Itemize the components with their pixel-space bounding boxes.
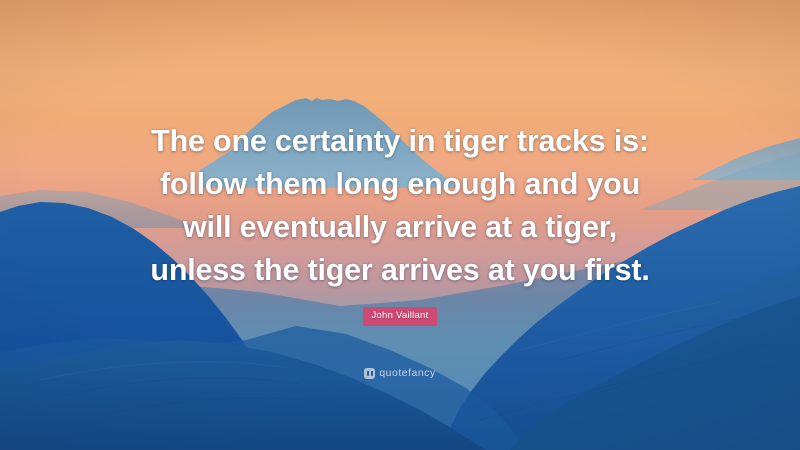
quote-text: The one certainty in tiger tracks is: fo… <box>100 120 700 292</box>
quote-marks-icon <box>364 368 375 379</box>
author-attribution-container: John Vaillant <box>0 305 800 326</box>
brand-name-label: quotefancy <box>379 368 435 379</box>
brand-watermark-container: quotefancy <box>0 366 800 384</box>
quote-image-canvas: The one certainty in tiger tracks is: fo… <box>0 0 800 450</box>
quotefancy-watermark[interactable]: quotefancy <box>364 368 435 379</box>
quote-content-overlay: The one certainty in tiger tracks is: fo… <box>0 0 800 450</box>
author-name-badge[interactable]: John Vaillant <box>363 307 438 326</box>
